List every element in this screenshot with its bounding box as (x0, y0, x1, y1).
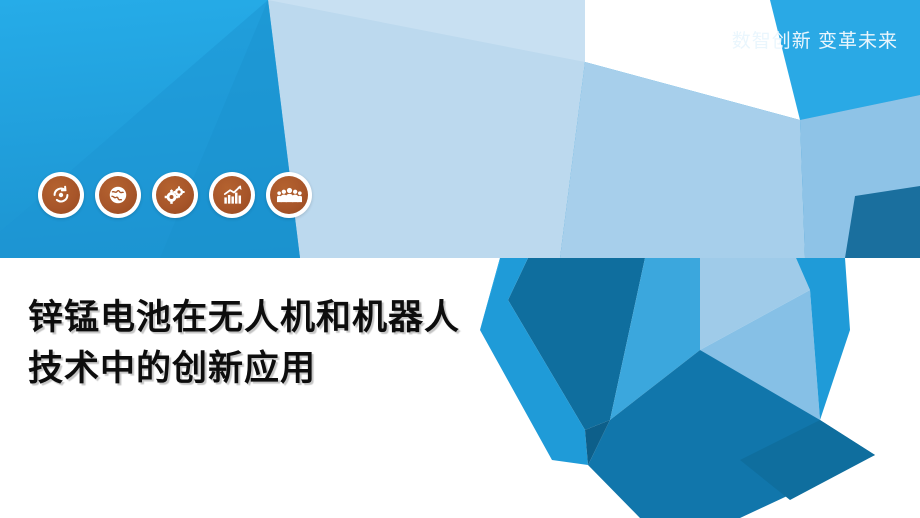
poly-right-strip (845, 186, 920, 258)
icon-badge-bar-chart[interactable] (209, 172, 255, 218)
people-group-icon (277, 184, 302, 207)
gears-icon (163, 183, 187, 207)
icon-disc (42, 176, 80, 214)
icon-badge-people[interactable] (266, 172, 312, 218)
title-slide: 数智创新 变革未来 (0, 0, 920, 518)
icon-disc (156, 176, 194, 214)
icon-badge-gears[interactable] (152, 172, 198, 218)
geometric-background (0, 0, 920, 518)
icon-disc (99, 176, 137, 214)
bar-chart-icon (221, 184, 244, 207)
globe-icon (107, 184, 129, 206)
slide-tagline: 数智创新 变革未来 (732, 26, 898, 53)
slide-title: 锌锰电池在无人机和机器人 技术中的创新应用 (28, 292, 568, 394)
icon-disc (213, 176, 251, 214)
title-line-2: 技术中的创新应用 (28, 343, 568, 394)
recycle-arrow-icon (50, 184, 72, 206)
icon-row (38, 172, 312, 218)
icon-disc (270, 176, 308, 214)
title-line-1: 锌锰电池在无人机和机器人 (28, 292, 568, 343)
icon-badge-globe[interactable] (95, 172, 141, 218)
icon-badge-recycle[interactable] (38, 172, 84, 218)
